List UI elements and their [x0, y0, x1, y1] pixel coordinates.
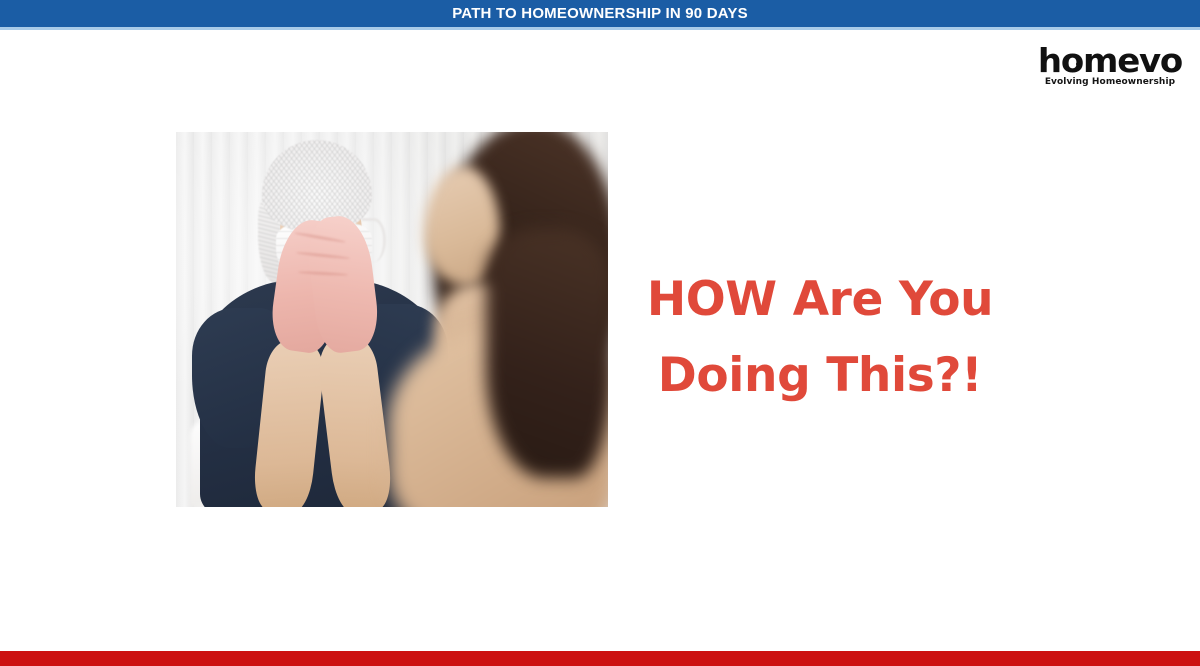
brand-logo: homevo Evolving Homeownership — [1032, 44, 1188, 90]
logo-dot-icon — [1076, 61, 1082, 67]
slide-footer-bar — [0, 651, 1200, 666]
headline-line-1: HOW Are You — [620, 262, 1020, 338]
slide-photo — [176, 132, 608, 507]
header-underline-rule — [0, 27, 1200, 30]
photo-foreground-client-hair-fall — [486, 228, 608, 478]
headline-line-2: Doing This?! — [620, 338, 1020, 414]
slide-headline: HOW Are You Doing This?! — [620, 262, 1020, 414]
presentation-slide: PATH TO HOMEOWNERSHIP IN 90 DAYS homevo … — [0, 0, 1200, 666]
slide-header-title: PATH TO HOMEOWNERSHIP IN 90 DAYS — [452, 6, 748, 21]
slide-header-banner: PATH TO HOMEOWNERSHIP IN 90 DAYS — [0, 0, 1200, 27]
logo-wordmark: homevo — [1030, 44, 1191, 78]
